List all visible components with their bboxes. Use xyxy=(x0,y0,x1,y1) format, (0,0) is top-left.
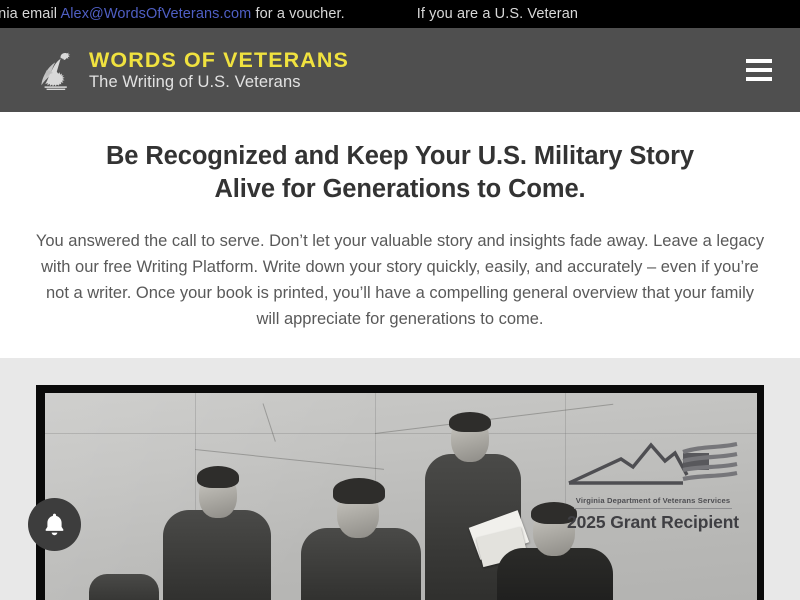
hamburger-bar-2 xyxy=(746,68,772,72)
bell-icon xyxy=(43,512,66,537)
brand-logo-link[interactable]: WORDS OF VETERANS The Writing of U.S. Ve… xyxy=(36,48,349,92)
page-root: eran living in Virginia email Alex@Words… xyxy=(0,0,800,600)
eagle-icon xyxy=(36,48,78,92)
ticker-track: eran living in Virginia email Alex@Words… xyxy=(0,0,578,28)
ticker-message-1: eran living in Virginia email Alex@Words… xyxy=(0,0,345,28)
site-header: WORDS OF VETERANS The Writing of U.S. Ve… xyxy=(0,28,800,112)
photo-section: Virginia Department of Veterans Services… xyxy=(0,358,800,600)
notification-bell-button[interactable] xyxy=(28,498,81,551)
hero-paragraph: You answered the call to serve. Don’t le… xyxy=(35,228,765,332)
grant-award-label: 2025 Grant Recipient xyxy=(553,512,753,532)
hamburger-icon[interactable] xyxy=(742,55,776,85)
page-title: Be Recognized and Keep Your U.S. Militar… xyxy=(20,140,780,206)
hero-photo-image: Virginia Department of Veterans Services… xyxy=(45,393,757,600)
brand-title: WORDS OF VETERANS xyxy=(89,49,349,72)
brand-text: WORDS OF VETERANS The Writing of U.S. Ve… xyxy=(89,49,349,92)
ticker-message-2: If you are a U.S. Veteran xyxy=(417,0,578,28)
grant-department-label: Virginia Department of Veterans Services xyxy=(553,496,753,506)
grant-divider xyxy=(574,508,732,509)
announcement-ticker: eran living in Virginia email Alex@Words… xyxy=(0,0,800,28)
backdrop-seam xyxy=(45,433,757,434)
page-title-line-1: Be Recognized and Keep Your U.S. Militar… xyxy=(20,140,780,173)
ticker-message-1-post: for a voucher. xyxy=(251,6,344,22)
grant-watermark: Virginia Department of Veterans Services… xyxy=(553,435,753,532)
brand-tagline: The Writing of U.S. Veterans xyxy=(89,73,349,92)
hamburger-bar-3 xyxy=(746,77,772,81)
hero-section: Be Recognized and Keep Your U.S. Militar… xyxy=(0,112,800,358)
ticker-email-link[interactable]: Alex@WordsOfVeterans.com xyxy=(60,6,251,22)
hamburger-bar-1 xyxy=(746,59,772,63)
ticker-message-2-pre: If you are a U.S. Veteran xyxy=(417,6,578,22)
page-title-line-2: Alive for Generations to Come. xyxy=(20,173,780,206)
photo-scratch xyxy=(375,404,613,434)
mountain-flag-icon xyxy=(553,435,753,495)
ticker-message-1-pre: eran living in Virginia email xyxy=(0,6,60,22)
hero-photo: Virginia Department of Veterans Services… xyxy=(36,385,764,600)
photo-scratch xyxy=(263,403,276,441)
